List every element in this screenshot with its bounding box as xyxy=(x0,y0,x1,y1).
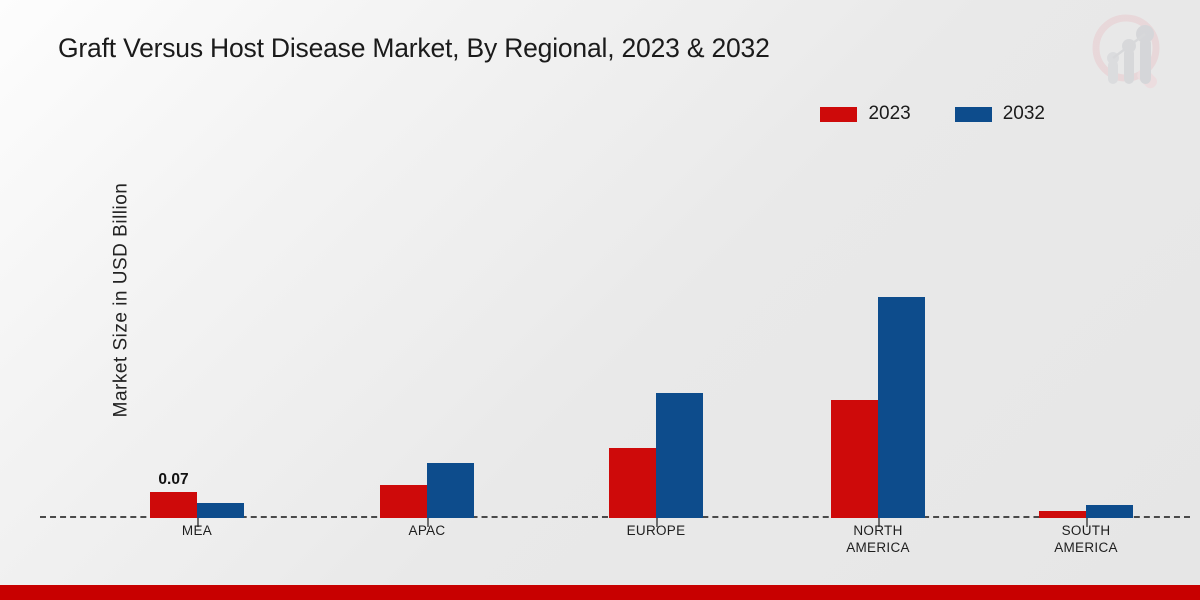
bar-group xyxy=(380,150,474,518)
legend-item-2023[interactable]: 2023 xyxy=(820,103,910,125)
x-axis-label-apac: APAC xyxy=(409,522,446,539)
footer-accent-bar xyxy=(0,585,1200,600)
bar-2032-apac[interactable] xyxy=(427,463,474,518)
bar-group xyxy=(1039,150,1133,518)
x-axis-label-north-america: NORTH AMERICA xyxy=(846,522,910,556)
legend-item-2032[interactable]: 2032 xyxy=(955,103,1045,125)
x-axis-label-mea: MEA xyxy=(182,522,212,539)
magnifier-bar-chart-logo-icon xyxy=(1086,8,1182,104)
bar-2032-mea[interactable] xyxy=(197,503,244,518)
x-axis-label-europe: EUROPE xyxy=(627,522,686,539)
x-axis-label-south-america: SOUTH AMERICA xyxy=(1054,522,1118,556)
bar-2032-north-america[interactable] xyxy=(878,297,925,518)
bar-2023-mea[interactable]: 0.07 xyxy=(150,492,197,518)
bar-group: 0.07 xyxy=(150,150,244,518)
plot-area: 0.07 MEAAPACEUROPENORTH AMERICASOUTH AME… xyxy=(40,150,1190,518)
legend-swatch-2023 xyxy=(820,107,857,122)
bar-2023-north-america[interactable] xyxy=(831,400,878,518)
chart-legend: 2023 2032 xyxy=(820,103,1045,125)
chart-figure: Graft Versus Host Disease Market, By Reg… xyxy=(0,0,1200,600)
bar-group xyxy=(609,150,703,518)
bar-group xyxy=(831,150,925,518)
bar-2023-apac[interactable] xyxy=(380,485,427,518)
bar-2032-south-america[interactable] xyxy=(1086,505,1133,518)
bar-2023-europe[interactable] xyxy=(609,448,656,518)
legend-swatch-2032 xyxy=(955,107,992,122)
bar-value-label: 0.07 xyxy=(158,471,188,489)
legend-label-2023: 2023 xyxy=(868,103,910,125)
legend-label-2032: 2032 xyxy=(1003,103,1045,125)
bar-2032-europe[interactable] xyxy=(656,393,703,518)
bar-2023-south-america[interactable] xyxy=(1039,511,1086,518)
chart-title: Graft Versus Host Disease Market, By Reg… xyxy=(58,33,770,64)
